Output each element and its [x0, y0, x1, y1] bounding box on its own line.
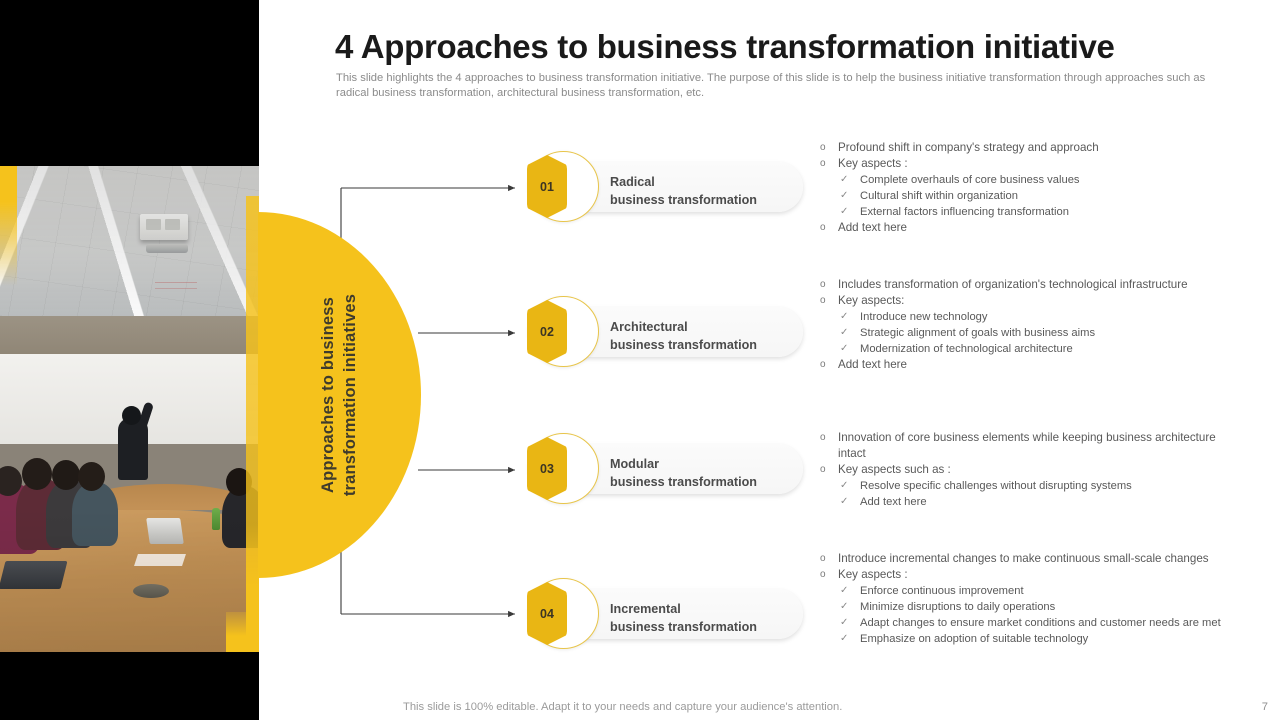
detail-bullet: Innovation of core business elements whi…: [816, 430, 1246, 462]
approach-number-badge[interactable]: 04: [527, 582, 567, 645]
approach-title-line-2: business transformation: [610, 191, 757, 209]
detail-sub-bullet: Cultural shift within organization: [816, 188, 1246, 204]
detail-sub-bullet: Adapt changes to ensure market condition…: [816, 615, 1246, 631]
approach-title-line-2: business transformation: [610, 336, 757, 354]
detail-bullet: Key aspects :: [816, 156, 1246, 172]
hub-label-line-1: Approaches to business: [318, 294, 340, 496]
approach-number-badge[interactable]: 03: [527, 437, 567, 500]
detail-bullet: Add text here: [816, 220, 1246, 236]
approach-title-line-2: business transformation: [610, 618, 757, 636]
approach-detail-list: Includes transformation of organization'…: [816, 277, 1246, 373]
detail-bullet: Introduce incremental changes to make co…: [816, 551, 1246, 567]
approach-detail-list: Innovation of core business elements whi…: [816, 430, 1246, 510]
detail-bullet: Profound shift in company's strategy and…: [816, 140, 1246, 156]
detail-sub-bullet: Add text here: [816, 494, 1246, 510]
detail-sub-bullet: Minimize disruptions to daily operations: [816, 599, 1246, 615]
approach-number: 02: [540, 325, 554, 339]
detail-sub-bullet: Enforce continuous improvement: [816, 583, 1246, 599]
slide-canvas: 4 Approaches to business transformation …: [0, 0, 1280, 720]
approach-title-line-2: business transformation: [610, 473, 757, 491]
approach-number: 04: [540, 607, 554, 621]
detail-bullet: Key aspects :: [816, 567, 1246, 583]
approach-card-label: Architectural business transformation: [610, 318, 757, 354]
hub-label: Approaches to business transformation in…: [258, 212, 421, 578]
approach-detail-list: Introduce incremental changes to make co…: [816, 551, 1246, 647]
page-number: 7: [1262, 701, 1268, 713]
detail-sub-bullet: Resolve specific challenges without disr…: [816, 478, 1246, 494]
detail-sub-bullet: Complete overhauls of core business valu…: [816, 172, 1246, 188]
approach-detail-list: Profound shift in company's strategy and…: [816, 140, 1246, 236]
approach-card-label: Radical business transformation: [610, 173, 757, 209]
approach-number: 03: [540, 462, 554, 476]
detail-sub-bullet: External factors influencing transformat…: [816, 204, 1246, 220]
approach-title-line-1: Radical: [610, 173, 757, 191]
approach-number-badge[interactable]: 02: [527, 300, 567, 363]
footer-note: This slide is 100% editable. Adapt it to…: [403, 701, 842, 713]
approach-card-label: Modular business transformation: [610, 455, 757, 491]
approach-title-line-1: Incremental: [610, 600, 757, 618]
detail-sub-bullet: Modernization of technological architect…: [816, 341, 1246, 357]
approach-title-line-1: Architectural: [610, 318, 757, 336]
approach-number: 01: [540, 180, 554, 194]
detail-sub-bullet: Emphasize on adoption of suitable techno…: [816, 631, 1246, 647]
approach-title-line-1: Modular: [610, 455, 757, 473]
detail-sub-bullet: Introduce new technology: [816, 309, 1246, 325]
detail-bullet: Add text here: [816, 357, 1246, 373]
detail-bullet: Key aspects such as :: [816, 462, 1246, 478]
approach-card-label: Incremental business transformation: [610, 600, 757, 636]
approach-number-badge[interactable]: 01: [527, 155, 567, 218]
detail-bullet: Includes transformation of organization'…: [816, 277, 1246, 293]
detail-sub-bullet: Strategic alignment of goals with busine…: [816, 325, 1246, 341]
hub-label-line-2: transformation initiatives: [340, 294, 362, 496]
detail-bullet: Key aspects:: [816, 293, 1246, 309]
